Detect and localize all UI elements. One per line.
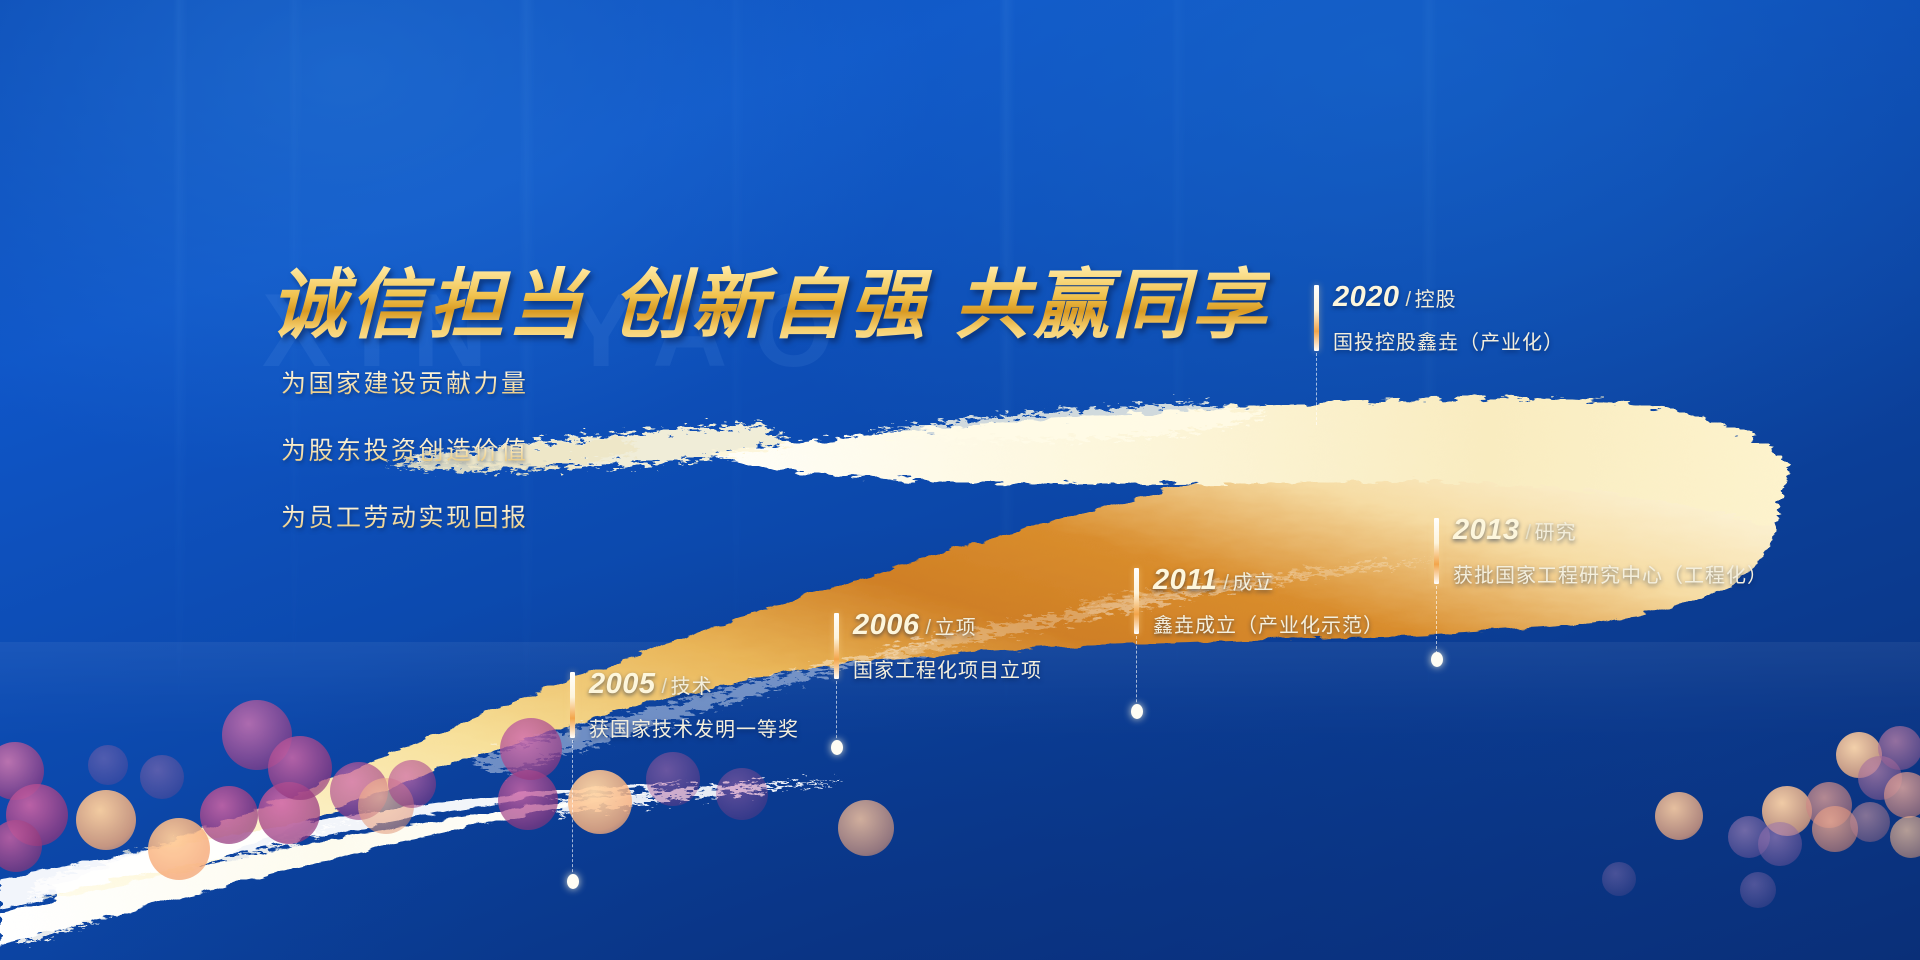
milestone-leader-line (572, 740, 573, 882)
milestone-category: 研究 (1535, 522, 1577, 544)
milestone-year: 2020/控股 (1333, 281, 1457, 314)
milestone-description: 获国家技术发明一等奖 (589, 713, 799, 742)
milestone-category: 成立 (1232, 572, 1274, 594)
page-title: 诚信担当创新自强共赢同享 (270, 243, 1270, 353)
subtitle-line: 为国家建设贡献力量 (281, 364, 529, 400)
milestone-year-value: 2006 (853, 609, 920, 641)
milestone-separator: / (1406, 289, 1412, 311)
milestone-accent-bar (834, 613, 839, 679)
milestone-separator: / (1526, 522, 1532, 544)
milestone-separator: / (1223, 572, 1229, 594)
headline-part-2: 创新自强 (612, 263, 928, 348)
milestone-accent-bar (1134, 568, 1139, 634)
milestone-accent-bar (1434, 518, 1439, 584)
milestone-description: 获批国家工程研究中心（工程化） (1453, 559, 1768, 588)
milestone-category: 控股 (1415, 289, 1457, 311)
milestone-year: 2013/研究 (1453, 514, 1577, 547)
milestone-leader-line (836, 681, 837, 748)
subtitle-line: 为股东投资创造价值 (281, 431, 529, 467)
milestone-year: 2006/立项 (853, 609, 977, 642)
subtitle-list: 为国家建设贡献力量 为股东投资创造价值 为员工劳动实现回报 (281, 364, 529, 565)
banner-stage: XIN YAO 诚信担当创新自强共赢同享 为国家建设贡献力量 为股东投资创造价值… (0, 0, 1920, 960)
milestone-year-value: 2013 (1453, 514, 1520, 546)
milestone-year: 2005/技术 (589, 668, 713, 701)
milestone-dot (1431, 652, 1443, 667)
milestone-dot (831, 740, 843, 755)
subtitle-line: 为员工劳动实现回报 (281, 498, 529, 534)
headline-part-1: 诚信担当 (270, 263, 586, 348)
milestone-accent-bar (1314, 285, 1319, 351)
milestone-category: 立项 (935, 617, 977, 639)
milestone-description: 国投控股鑫垚（产业化） (1333, 326, 1564, 355)
milestone-dot (567, 874, 579, 889)
headline-part-3: 共赢同享 (954, 263, 1270, 348)
milestone-description: 鑫垚成立（产业化示范） (1153, 609, 1384, 638)
milestone-separator: / (662, 676, 668, 698)
milestone-description: 国家工程化项目立项 (853, 654, 1042, 683)
milestone-dot (1131, 704, 1143, 719)
milestone-year-value: 2005 (589, 668, 656, 700)
milestone-accent-bar (570, 672, 575, 738)
milestone-year-value: 2011 (1153, 564, 1217, 596)
milestone-leader-line (1136, 636, 1137, 712)
milestone-year-value: 2020 (1333, 281, 1400, 313)
milestone-category: 技术 (671, 676, 713, 698)
milestone-year: 2011/成立 (1153, 564, 1274, 597)
milestone-separator: / (926, 617, 932, 639)
milestone-leader-line (1316, 353, 1317, 425)
